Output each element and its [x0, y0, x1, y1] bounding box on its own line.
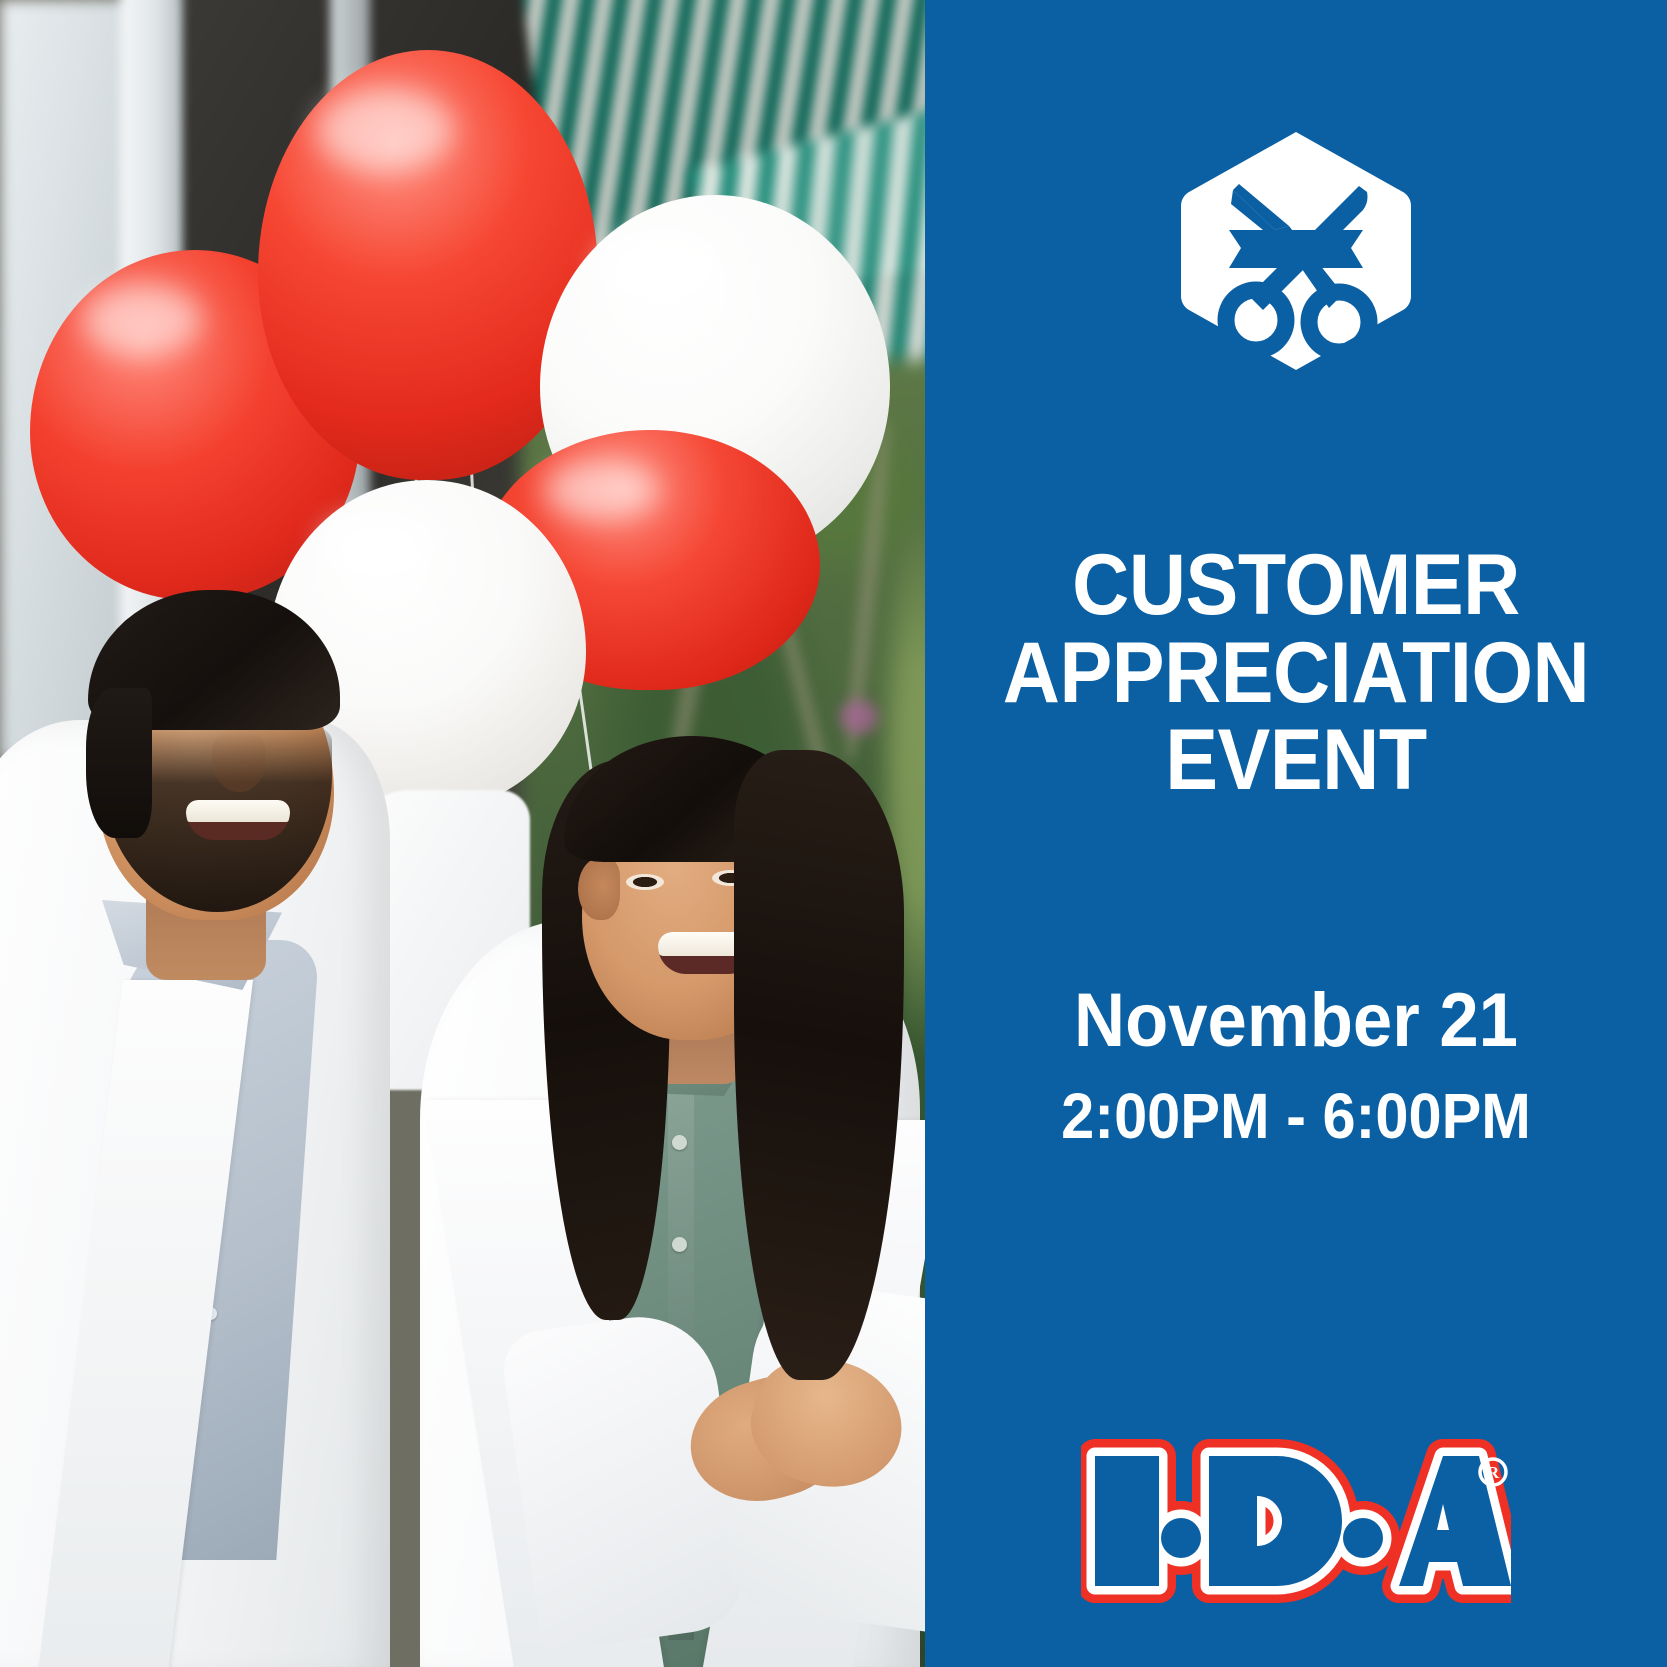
brand-logo-container: R [925, 1438, 1667, 1603]
event-time: 2:00PM - 6:00PM [951, 1083, 1641, 1150]
blouse-button [672, 1135, 687, 1150]
promotional-poster: CUSTOMER APPRECIATION EVENT November 21 … [0, 0, 1667, 1667]
event-date: November 21 [951, 981, 1641, 1061]
blouse-button [672, 1237, 687, 1252]
info-panel: CUSTOMER APPRECIATION EVENT November 21 … [925, 0, 1667, 1667]
page-title: CUSTOMER APPRECIATION EVENT [955, 542, 1638, 805]
male-mouth [186, 800, 290, 840]
headline-line-3: EVENT [955, 717, 1638, 805]
male-pharmacist [0, 400, 430, 1667]
event-photo [0, 0, 925, 1667]
badge-container [1171, 126, 1421, 376]
female-clasped-hands [690, 1360, 920, 1560]
svg-text:R: R [1487, 1463, 1500, 1482]
ribbon-cutting-scissors-hexagon-icon [1171, 126, 1421, 376]
male-teeth [186, 800, 290, 822]
female-eye [626, 874, 664, 890]
female-pharmacist [400, 640, 925, 1667]
ida-logo: R [1081, 1438, 1511, 1603]
headline-line-1: CUSTOMER [955, 542, 1638, 630]
headline-line-2: APPRECIATION [955, 630, 1638, 718]
female-ear [578, 858, 620, 920]
male-hair-side [86, 688, 152, 838]
male-nose [212, 728, 266, 792]
